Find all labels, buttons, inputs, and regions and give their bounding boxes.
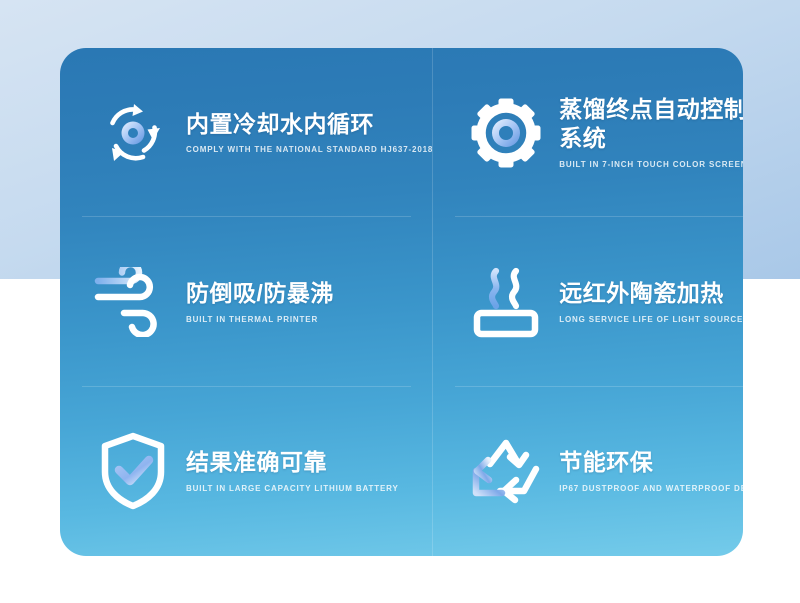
feature-subtitle: BUILT IN LARGE CAPACITY LITHIUM BATTERY (186, 484, 399, 494)
feature-title: 结果准确可靠 (186, 448, 399, 478)
heater-steam-icon (467, 263, 545, 341)
feature-subtitle: COMPLY WITH THE NATIONAL STANDARD HJ637-… (186, 145, 433, 155)
feature-subtitle: BUILT IN THERMAL PRINTER (186, 315, 334, 325)
feature-text: 防倒吸/防暴沸 BUILT IN THERMAL PRINTER (186, 279, 334, 325)
wind-icon (94, 263, 172, 341)
feature-item-cooling-cycle[interactable]: 内置冷却水内循环 COMPLY WITH THE NATIONAL STANDA… (60, 48, 433, 217)
recycle-icon (467, 432, 545, 510)
feature-title: 防倒吸/防暴沸 (186, 279, 334, 309)
feature-item-auto-control[interactable]: 蒸馏终点自动控制 系统 BUILT IN 7-INCH TOUCH COLOR … (433, 48, 743, 217)
feature-title: 蒸馏终点自动控制 系统 (559, 95, 743, 155)
shield-check-icon (94, 432, 172, 510)
feature-subtitle: BUILT IN 7-INCH TOUCH COLOR SCREEN (559, 160, 743, 170)
feature-item-infrared-heating[interactable]: 远红外陶瓷加热 LONG SERVICE LIFE OF LIGHT SOURC… (433, 217, 743, 386)
feature-title: 远红外陶瓷加热 (559, 279, 743, 309)
feature-item-reliable-results[interactable]: 结果准确可靠 BUILT IN LARGE CAPACITY LITHIUM B… (60, 387, 433, 556)
feature-text: 蒸馏终点自动控制 系统 BUILT IN 7-INCH TOUCH COLOR … (559, 95, 743, 171)
feature-grid: 内置冷却水内循环 COMPLY WITH THE NATIONAL STANDA… (60, 48, 743, 556)
feature-text: 远红外陶瓷加热 LONG SERVICE LIFE OF LIGHT SOURC… (559, 279, 743, 325)
feature-subtitle: IP67 DUSTPROOF AND WATERPROOF DESIGN (559, 484, 743, 494)
feature-text: 节能环保 IP67 DUSTPROOF AND WATERPROOF DESIG… (559, 448, 743, 494)
feature-title: 内置冷却水内循环 (186, 110, 433, 140)
feature-text: 内置冷却水内循环 COMPLY WITH THE NATIONAL STANDA… (186, 110, 433, 156)
cooling-cycle-icon (94, 94, 172, 172)
feature-text: 结果准确可靠 BUILT IN LARGE CAPACITY LITHIUM B… (186, 448, 399, 494)
feature-card: 内置冷却水内循环 COMPLY WITH THE NATIONAL STANDA… (60, 48, 743, 556)
feature-subtitle: LONG SERVICE LIFE OF LIGHT SOURCE (559, 315, 743, 325)
feature-title: 节能环保 (559, 448, 743, 478)
gear-icon (467, 94, 545, 172)
feature-item-anti-suckback[interactable]: 防倒吸/防暴沸 BUILT IN THERMAL PRINTER (60, 217, 433, 386)
feature-item-energy-saving[interactable]: 节能环保 IP67 DUSTPROOF AND WATERPROOF DESIG… (433, 387, 743, 556)
